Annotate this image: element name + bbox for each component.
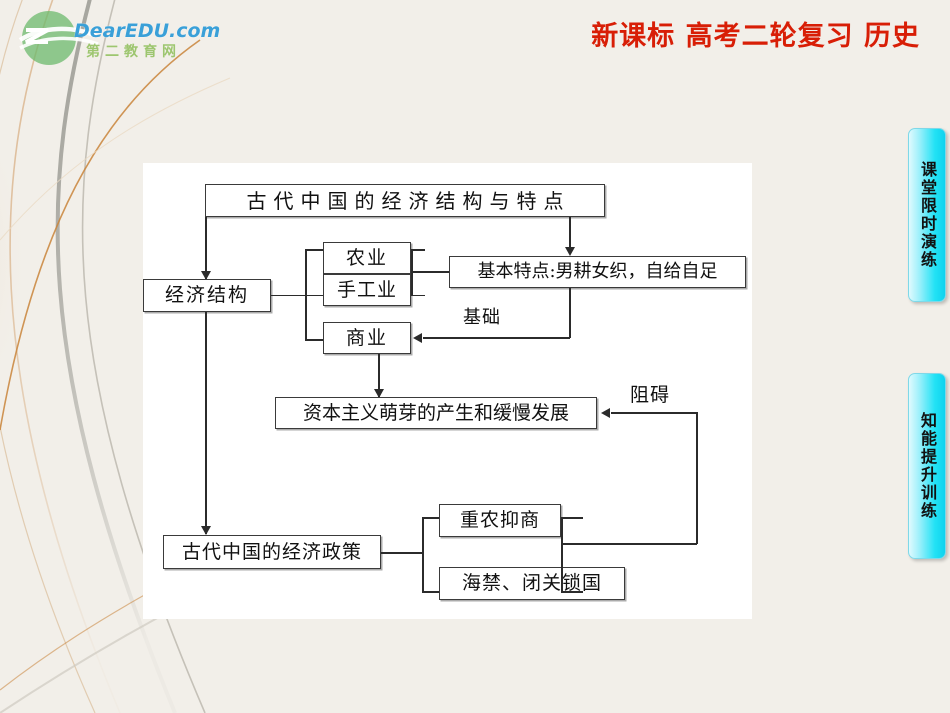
arrowhead-policy — [201, 526, 211, 535]
policy-item-box-agriculture-first: 重农抑商 — [439, 504, 561, 537]
connector-hinder-bottom — [561, 543, 697, 545]
connector-feature-to-commerce — [423, 337, 570, 339]
connector-policy-to-bracket — [381, 552, 423, 554]
connector-title-to-structure — [205, 217, 207, 279]
connector-feature-down — [569, 288, 571, 338]
sidebar-item-label: 知能提升训练 — [919, 412, 935, 520]
diagram-title-box: 古代中国的经济结构与特点 — [205, 184, 605, 217]
connector-hinder-vertical — [696, 412, 698, 544]
policy-right-stub-top — [561, 517, 583, 519]
policy-item-box-sea-ban: 海禁、闭关锁国 — [439, 567, 625, 600]
label-hinder: 阻碍 — [630, 380, 670, 407]
connector-bracket-to-feature — [411, 271, 449, 273]
bracket-right-stub-bottom — [411, 295, 425, 297]
connector-hinder-horizontal — [611, 412, 697, 414]
branch-box-handicraft: 手工业 — [323, 274, 411, 306]
arrowhead-feature — [565, 247, 575, 256]
label-basis: 基础 — [463, 303, 501, 329]
bracket-right-stub-top — [411, 249, 425, 251]
policy-box: 古代中国的经济政策 — [163, 535, 381, 569]
page-title: 新课标 高考二轮复习 历史 — [591, 14, 920, 53]
diagram-panel: 古代中国的经济结构与特点 经济结构 农业 手工业 商业 基本特点:男耕女织，自给… — [143, 163, 752, 619]
sidebar-item-label: 课堂限时演练 — [919, 161, 935, 269]
logo-wordmark: DearEDU.com — [74, 20, 220, 42]
arrowhead-commerce — [413, 333, 422, 343]
feature-box: 基本特点:男耕女织，自给自足 — [449, 256, 746, 288]
branch-box-agriculture: 农业 — [323, 242, 411, 274]
arrowhead-hinder — [601, 408, 610, 418]
branch-box-commerce: 商业 — [323, 322, 411, 354]
policy-right-stub-bottom — [561, 591, 583, 593]
capitalism-box: 资本主义萌芽的产生和缓慢发展 — [275, 397, 597, 429]
logo-subtitle: 第二教育网 — [86, 41, 181, 61]
sidebar-item-class-timed-practice[interactable]: 课堂限时演练 — [908, 128, 946, 302]
connector-structure-to-policy — [205, 312, 207, 534]
connector-title-to-feature — [569, 217, 571, 249]
logo[interactable]: DearEDU.com 第二教育网 — [12, 8, 202, 66]
structure-box: 经济结构 — [143, 279, 271, 312]
connector-structure-to-bracket — [271, 295, 305, 297]
policy-right-vertical — [561, 517, 563, 593]
policy-bracket-left — [422, 517, 424, 593]
sidebar-item-skill-improvement-training[interactable]: 知能提升训练 — [908, 373, 946, 559]
